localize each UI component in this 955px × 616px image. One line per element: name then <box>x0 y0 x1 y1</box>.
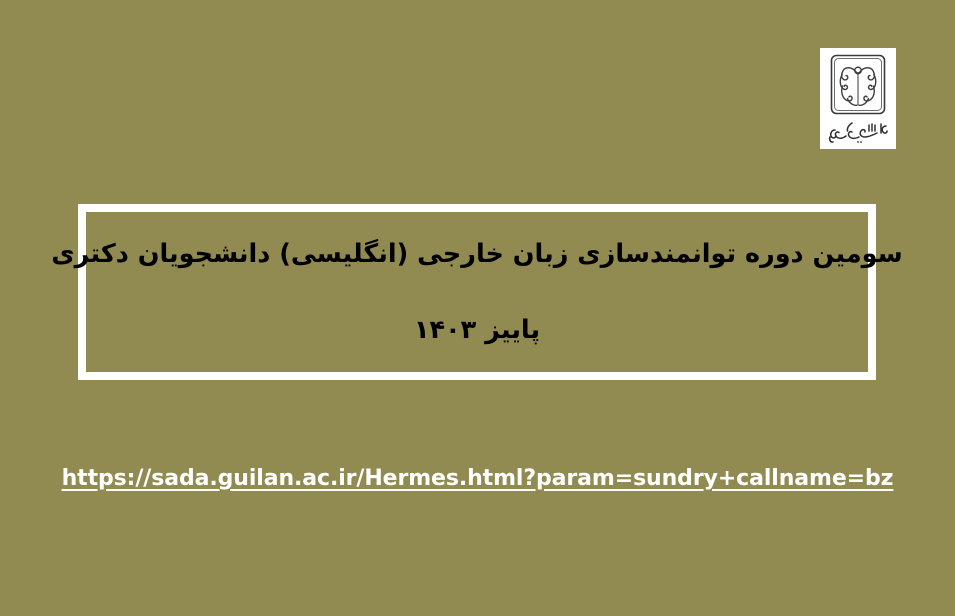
headline-term-title: پاییز ۱۴۰۳ <box>414 315 540 347</box>
headline-content: سومین دوره توانمندسازی زبان خارجی (انگلی… <box>86 212 868 372</box>
headline-primary-title: سومین دوره توانمندسازی زبان خارجی (انگلی… <box>51 239 902 271</box>
poster-canvas: سومین دوره توانمندسازی زبان خارجی (انگلی… <box>0 0 955 616</box>
headline-frame: سومین دوره توانمندسازی زبان خارجی (انگلی… <box>78 204 876 380</box>
university-logo-caption-icon <box>825 117 891 147</box>
registration-url-row: https://sada.guilan.ac.ir/Hermes.html?pa… <box>0 466 955 491</box>
university-logo <box>820 48 896 149</box>
guilan-emblem-icon <box>829 53 887 116</box>
registration-url-link[interactable]: https://sada.guilan.ac.ir/Hermes.html?pa… <box>62 466 894 491</box>
